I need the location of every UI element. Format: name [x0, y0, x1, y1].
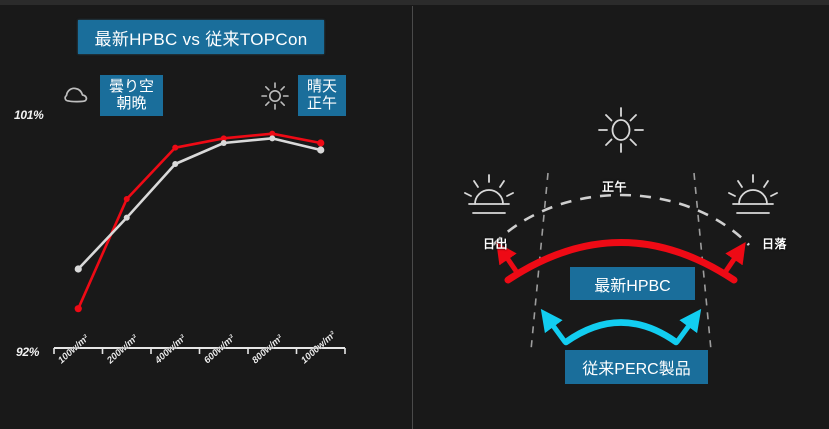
x-axis	[54, 348, 345, 354]
chart-data-point	[124, 215, 130, 221]
sunset-label: 日落	[762, 235, 787, 252]
chart-plot-area	[0, 60, 412, 429]
chart-data-point	[124, 196, 130, 202]
noon-label: 正午	[602, 178, 627, 195]
perc-arrow-left	[546, 316, 565, 342]
slide-root: 最新HPBC vs 従来TOPCon 曇り空朝晩	[0, 0, 829, 429]
chart-data-point	[269, 135, 275, 141]
right-panel: 発電時間の延長	[413, 5, 829, 429]
sun-path-arc	[493, 195, 749, 245]
perc-generation-arc	[566, 323, 676, 343]
hpbc-arrow-right	[726, 249, 741, 271]
chart-data-point	[317, 146, 324, 153]
chart-line-hpbc	[78, 134, 321, 309]
sunrise-label: 日出	[483, 235, 508, 252]
line-chart: 100w/m²200w/m²400w/m²600w/m²800w/m²1000w…	[0, 60, 412, 429]
sunset-icon	[729, 175, 777, 213]
chart-data-point	[172, 145, 178, 151]
hpbc-arrow-left	[501, 249, 516, 271]
chart-data-point	[317, 139, 324, 146]
callout-hpbc: 最新HPBC	[570, 267, 695, 300]
chart-series-group	[75, 131, 325, 313]
perc-arrow-right	[677, 316, 696, 342]
chart-data-point	[75, 265, 82, 272]
left-panel-title: 最新HPBC vs 従来TOPCon	[78, 20, 324, 54]
chart-data-point	[172, 161, 178, 167]
chart-data-point	[75, 305, 82, 312]
sunrise-icon	[465, 175, 513, 213]
chart-line-topcon	[78, 138, 321, 269]
sun-icon	[599, 108, 643, 152]
callout-perc: 従来PERC製品	[565, 350, 708, 384]
left-panel: 最新HPBC vs 従来TOPCon 曇り空朝晩	[0, 5, 412, 429]
chart-data-point	[221, 140, 227, 146]
